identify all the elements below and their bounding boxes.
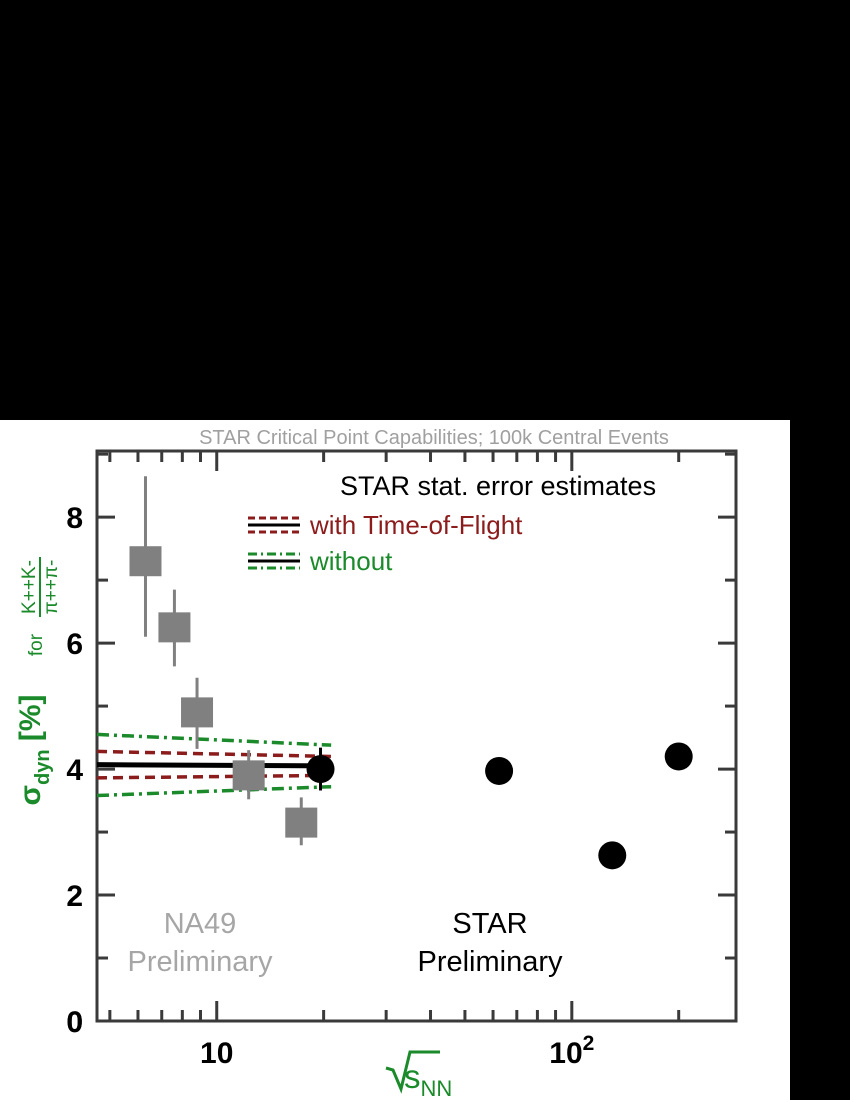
y-axis-numerator: K++K-: [19, 560, 40, 614]
band-with-time-of-flight-upper: [97, 751, 331, 756]
legend-label-with-tof: with Time-of-Flight: [309, 510, 523, 540]
figure-canvas: STAR Critical Point Capabilities; 100k C…: [0, 420, 790, 1100]
data-point-square: [285, 808, 317, 838]
data-point-square: [129, 546, 161, 576]
data-point-circle: [485, 757, 513, 785]
y-tick-labels: 024680: [66, 502, 83, 1039]
plot-title: STAR Critical Point Capabilities; 100k C…: [199, 427, 669, 449]
y-tick-label: 2: [66, 880, 83, 913]
annotation-na49: NA49 Preliminary: [127, 908, 273, 978]
x-tick-label: 102: [549, 1032, 594, 1070]
plot-svg: STAR Critical Point Capabilities; 100k C…: [0, 420, 790, 1100]
legend-label-without: without: [309, 546, 393, 576]
legend: STAR stat. error estimates with Time-of-…: [248, 471, 656, 576]
data-point-circle: [665, 742, 693, 770]
band-with-time-of-flight-lower: [97, 775, 331, 778]
band-without-upper: [97, 734, 331, 745]
x-tick-labels: 10102: [200, 1032, 594, 1070]
data-point-circle: [598, 841, 626, 869]
na49-label-line2: Preliminary: [127, 946, 273, 978]
y-tick-label: 8: [66, 502, 83, 535]
x-tick-label: 10: [200, 1037, 233, 1070]
na49-label-line1: NA49: [164, 908, 237, 940]
y-axis-label: σdyn [%] for K++K- π++π-: [14, 557, 62, 806]
annotation-star: STAR Preliminary: [417, 908, 563, 978]
data-point-square: [233, 760, 265, 790]
y-axis-denominator: π++π-: [41, 560, 62, 615]
data-point-square: [181, 697, 213, 727]
y-axis-units: [%]: [14, 694, 47, 749]
y-axis-fraction: K++K- π++π-: [19, 557, 62, 617]
legend-entry-with-tof: with Time-of-Flight: [248, 510, 523, 540]
y-tick-label: 4: [66, 754, 83, 787]
band-central-value: [97, 765, 331, 766]
x-axis-s: s: [404, 1058, 421, 1095]
legend-swatch-dashdot: [248, 554, 300, 568]
star-label-line2: Preliminary: [417, 946, 563, 978]
x-axis-label: sNN: [386, 1052, 452, 1100]
data-point-square: [158, 612, 190, 642]
error-bands: [97, 734, 331, 795]
x-axis-nn: NN: [421, 1076, 453, 1100]
band-without-lower: [97, 787, 331, 796]
y-axis-dyn: dyn: [32, 749, 54, 785]
y-axis-sigma: σ: [14, 785, 47, 806]
series-star: [307, 742, 693, 869]
legend-entry-without: without: [248, 546, 393, 576]
y-tick-label: 6: [66, 628, 83, 661]
data-point-circle: [307, 755, 335, 783]
legend-swatch-dashed: [248, 518, 300, 532]
star-label-line1: STAR: [452, 908, 527, 940]
y-tick-label-zero: 0: [66, 1006, 83, 1039]
legend-header: STAR stat. error estimates: [340, 471, 656, 501]
svg-text:σdyn [%]: σdyn [%]: [14, 694, 54, 805]
y-axis-for: for: [26, 633, 47, 656]
svg-text:sNN: sNN: [404, 1058, 452, 1100]
